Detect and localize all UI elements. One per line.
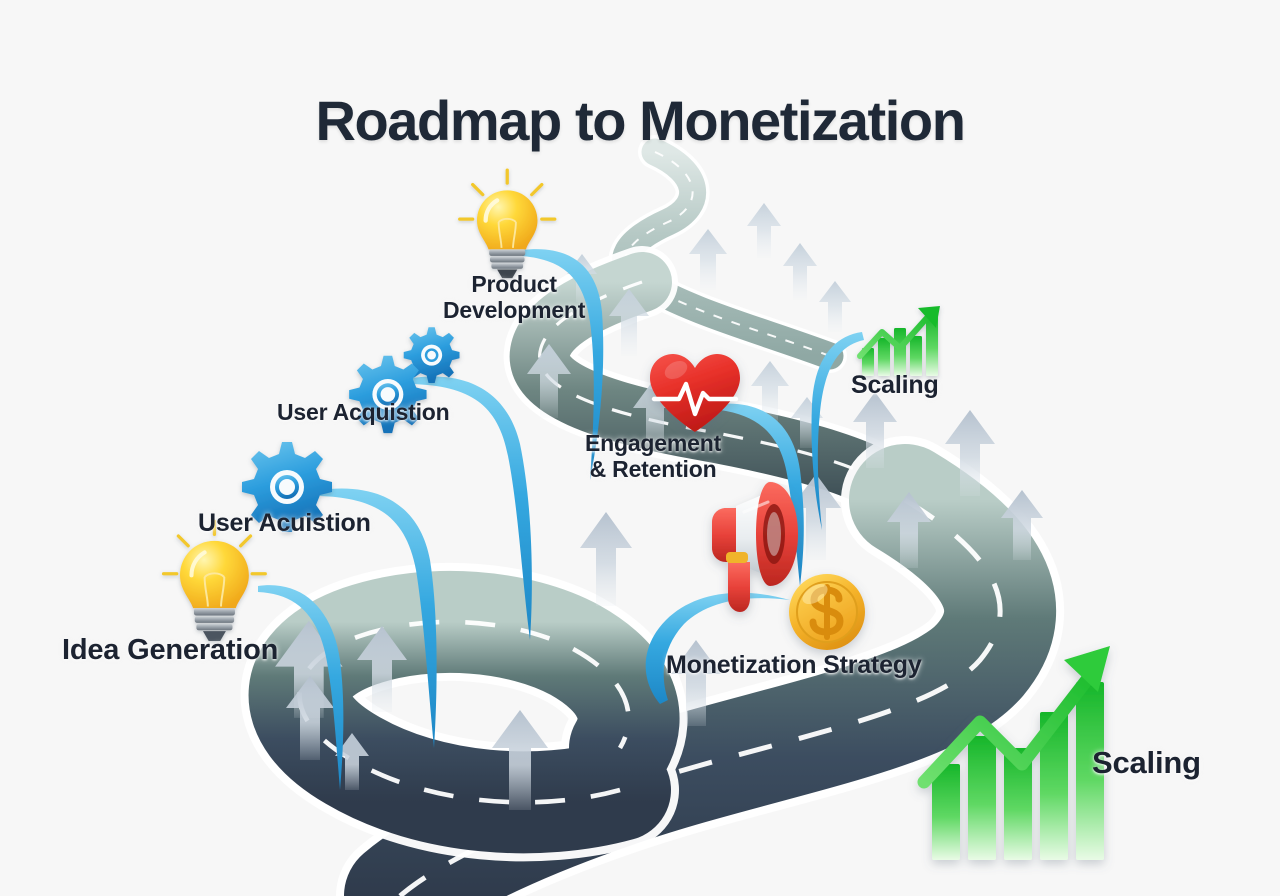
- stage-label-product-development[interactable]: Product Development: [443, 272, 585, 324]
- growth-chart-icon: [860, 306, 940, 376]
- stage-label-user-acquistion[interactable]: User Acquistion: [277, 400, 450, 426]
- lightbulb-icon: [164, 521, 266, 641]
- coin-dollar-icon: [789, 574, 865, 650]
- infographic-canvas: Roadmap to Monetization Idea Generation …: [0, 0, 1280, 896]
- page-title: Roadmap to Monetization: [0, 88, 1280, 153]
- stage-label-scaling-upper[interactable]: Scaling: [851, 371, 939, 399]
- stage-label-idea-generation[interactable]: Idea Generation: [62, 634, 278, 666]
- stage-label-user-acuistion[interactable]: User Acuistion: [198, 509, 371, 537]
- stage-label-scaling-lower[interactable]: Scaling: [1092, 746, 1201, 781]
- stage-label-monetization-strategy[interactable]: Monetization Strategy: [666, 651, 922, 679]
- megaphone-icon: [712, 482, 798, 612]
- lightbulb-icon: [460, 170, 555, 278]
- stage-label-engagement-retention[interactable]: Engagement & Retention: [585, 431, 721, 483]
